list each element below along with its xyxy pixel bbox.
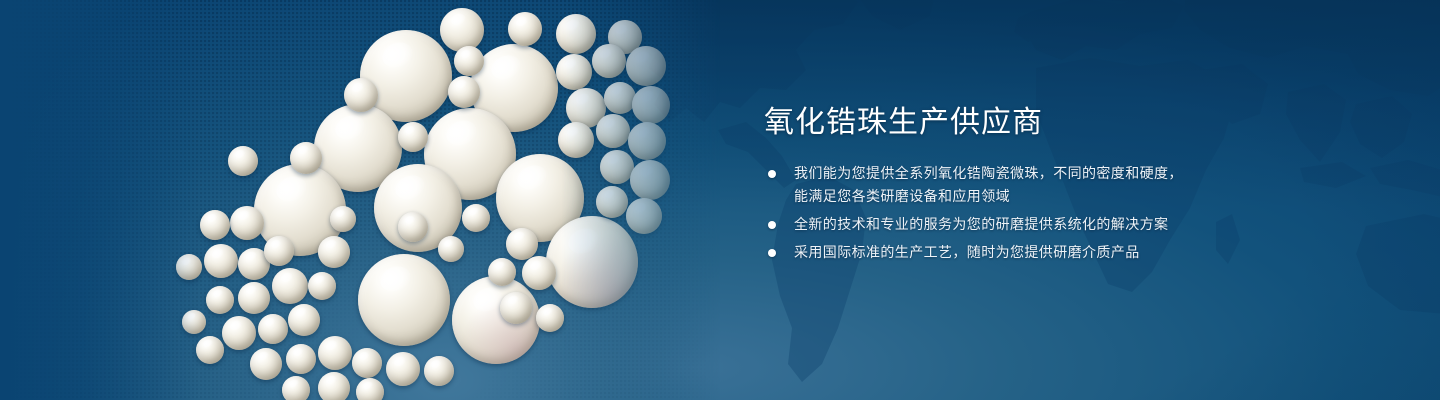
bead — [448, 76, 480, 108]
bead — [386, 352, 420, 386]
bead — [454, 46, 484, 76]
bead — [204, 244, 238, 278]
bead — [546, 216, 638, 308]
bead — [556, 14, 596, 54]
list-item: 全新的技术和专业的服务为您的研磨提供系统化的解决方案 — [768, 213, 1324, 236]
bullet-dot-icon — [768, 221, 776, 229]
bead — [352, 348, 382, 378]
bead — [424, 356, 454, 386]
bead — [556, 54, 592, 90]
bead — [200, 210, 230, 240]
bead — [238, 282, 270, 314]
bead — [626, 46, 666, 86]
bead — [398, 212, 428, 242]
bead — [308, 272, 336, 300]
page-title: 氧化锆珠生产供应商 — [764, 104, 1324, 142]
bead — [592, 44, 626, 78]
bead — [272, 268, 308, 304]
bead — [628, 122, 666, 160]
bead — [440, 8, 484, 52]
bead — [604, 82, 636, 114]
bead — [438, 236, 464, 262]
bead — [596, 114, 630, 148]
bead — [282, 376, 310, 400]
list-item: 采用国际标准的生产工艺，随时为您提供研磨介质产品 — [768, 241, 1324, 264]
bullet-dot-icon — [768, 170, 776, 178]
bead — [632, 86, 670, 124]
bead — [508, 12, 542, 46]
photo-left-fade — [0, 0, 200, 400]
bead — [250, 348, 282, 380]
bead — [330, 206, 356, 232]
feature-list: 我们能为您提供全系列氧化锆陶瓷微珠，不同的密度和硬度， 能满足您各类研磨设备和应… — [768, 162, 1324, 264]
bead — [230, 206, 264, 240]
bead — [522, 256, 556, 290]
bead — [558, 122, 594, 158]
bullet-dot-icon — [768, 249, 776, 257]
bead — [228, 146, 258, 176]
bead — [288, 304, 320, 336]
bead — [462, 204, 490, 232]
bead — [536, 304, 564, 332]
list-item-line: 全新的技术和专业的服务为您的研磨提供系统化的解决方案 — [794, 213, 1324, 236]
bead — [452, 276, 540, 364]
bead — [264, 236, 294, 266]
bead — [488, 258, 516, 286]
list-item-line: 我们能为您提供全系列氧化锆陶瓷微珠，不同的密度和硬度， — [794, 162, 1324, 185]
list-item-line: 能满足您各类研磨设备和应用领域 — [794, 185, 1324, 208]
bead — [358, 254, 450, 346]
bead — [318, 372, 350, 400]
bead — [500, 292, 532, 324]
bead — [398, 122, 428, 152]
bead — [626, 198, 662, 234]
bead — [206, 286, 234, 314]
bead — [258, 314, 288, 344]
bead — [318, 336, 352, 370]
bead — [600, 150, 634, 184]
list-item-line: 采用国际标准的生产工艺，随时为您提供研磨介质产品 — [794, 241, 1324, 264]
bead — [356, 378, 384, 400]
bead — [290, 142, 322, 174]
list-item: 我们能为您提供全系列氧化锆陶瓷微珠，不同的密度和硬度， 能满足您各类研磨设备和应… — [768, 162, 1324, 208]
bead — [630, 160, 670, 200]
zirconia-beads-photo — [0, 0, 720, 400]
bead — [286, 344, 316, 374]
banner-copy: 氧化锆珠生产供应商 我们能为您提供全系列氧化锆陶瓷微珠，不同的密度和硬度， 能满… — [764, 104, 1324, 269]
bead — [506, 228, 538, 260]
bead — [344, 78, 378, 112]
hero-banner: 氧化锆珠生产供应商 我们能为您提供全系列氧化锆陶瓷微珠，不同的密度和硬度， 能满… — [0, 0, 1440, 400]
bead — [596, 186, 628, 218]
bead — [196, 336, 224, 364]
bead — [222, 316, 256, 350]
bead — [318, 236, 350, 268]
